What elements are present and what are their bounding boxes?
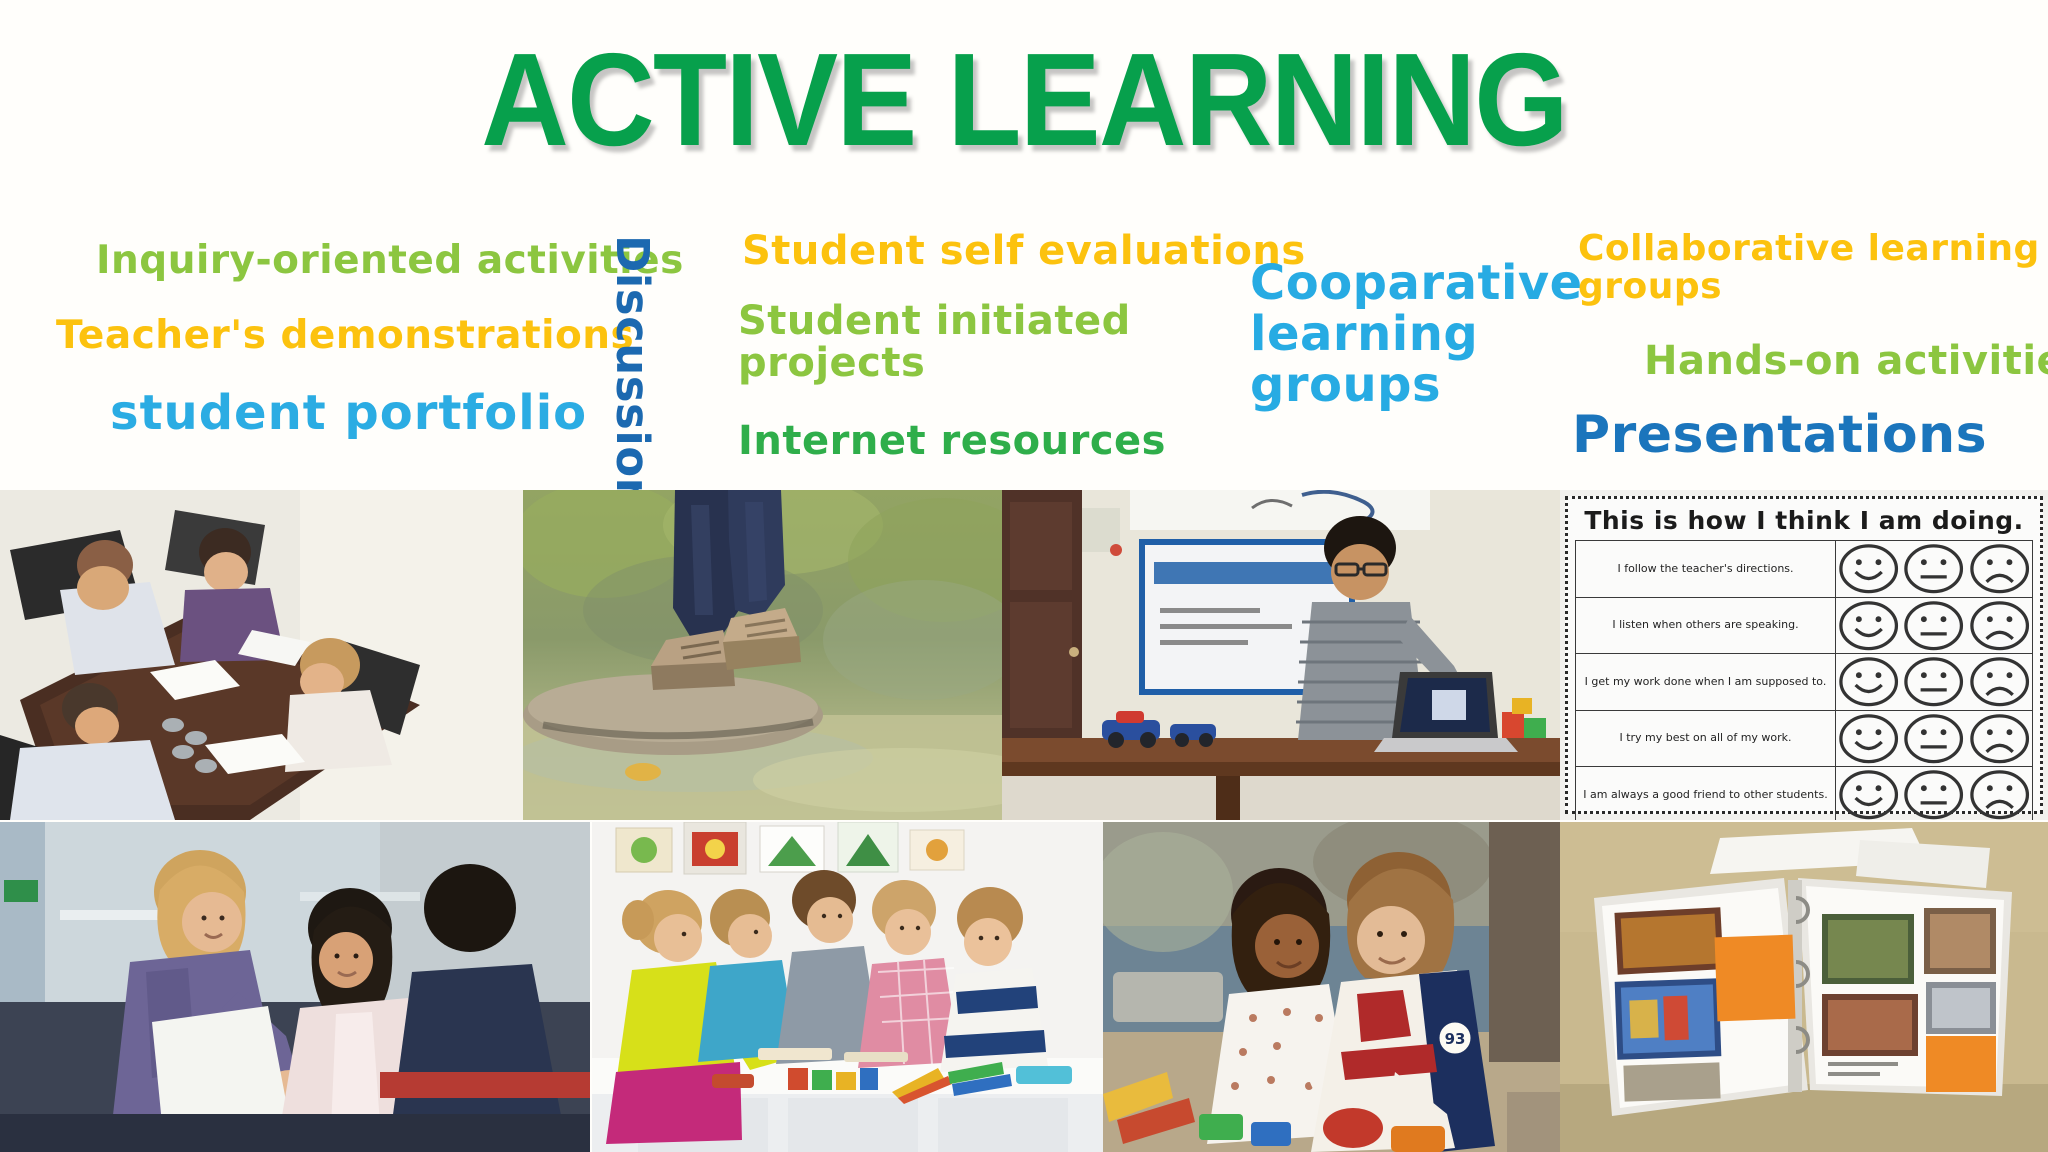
neutral-face-icon [1901, 541, 1966, 597]
keyword-student-self-evaluations: Student self evaluations [742, 230, 1306, 272]
keyword-collaborative-learning-groups: Collaborative learning groups [1578, 230, 2040, 306]
frowny-face-icon [1967, 654, 2032, 710]
worksheet-table: I follow the teacher's directions. I lis… [1575, 540, 2033, 820]
neutral-face-icon [1901, 767, 1966, 820]
keyword-presentations: Presentations [1572, 408, 1987, 463]
frowny-face-icon [1967, 767, 2032, 820]
smiley-face-icon [1836, 598, 1901, 654]
keyword-student-initiated-projects: Student initiated projects [738, 300, 1131, 385]
photo-children-crafting-image [592, 822, 1103, 1152]
worksheet-row: I listen when others are speaking. [1576, 598, 2032, 655]
photo-meeting-image [0, 490, 523, 820]
worksheet-title: This is how I think I am doing. [1575, 504, 2033, 540]
frowny-face-icon [1967, 711, 2032, 767]
photo-portfolio-scrapbook [1560, 822, 2048, 1152]
worksheet-row-label: I am always a good friend to other stude… [1576, 767, 1836, 820]
photo-portfolio-scrapbook-image [1560, 822, 2048, 1152]
photo-student-presenting [1002, 490, 1560, 820]
keyword-student-portfolio: student portfolio [110, 388, 587, 439]
photo-grid: This is how I think I am doing. I follow… [0, 490, 2048, 1152]
photo-teacher-tutoring-image [0, 822, 590, 1152]
frowny-face-icon [1967, 598, 2032, 654]
photo-self-assessment-worksheet: This is how I think I am doing. I follow… [1560, 490, 2048, 820]
neutral-face-icon [1901, 598, 1966, 654]
photo-meeting [0, 490, 523, 820]
worksheet-row: I follow the teacher's directions. [1576, 541, 2032, 598]
photo-student-presenting-image [1002, 490, 1560, 820]
neutral-face-icon [1901, 711, 1966, 767]
page-title: ACTIVE LEARNING [82, 34, 1966, 166]
keyword-band: Inquiry-oriented activities Teacher's de… [0, 210, 2048, 490]
worksheet-row-label: I get my work done when I am supposed to… [1576, 654, 1836, 710]
smiley-face-icon [1836, 541, 1901, 597]
svg-text:93: 93 [1445, 1030, 1466, 1048]
worksheet-rating-cell [1836, 654, 2032, 710]
photo-children-playing: 93 [1103, 822, 1560, 1152]
photo-stepping-stones-image [523, 490, 1002, 820]
worksheet-row: I get my work done when I am supposed to… [1576, 654, 2032, 711]
keyword-cooparative-learning-groups: Cooparative learning groups [1250, 258, 1583, 411]
worksheet-rating-cell [1836, 541, 2032, 597]
worksheet-row: I try my best on all of my work. [1576, 711, 2032, 768]
smiley-face-icon [1836, 654, 1901, 710]
keyword-internet-resources: Internet resources [738, 420, 1166, 462]
smiley-face-icon [1836, 711, 1901, 767]
keyword-hands-on-activities: Hands-on activities [1644, 340, 2048, 382]
neutral-face-icon [1901, 654, 1966, 710]
worksheet-row: I am always a good friend to other stude… [1576, 767, 2032, 820]
worksheet-row-label: I listen when others are speaking. [1576, 598, 1836, 654]
photo-children-playing-image: 93 [1103, 822, 1560, 1152]
worksheet-rating-cell [1836, 711, 2032, 767]
photo-children-crafting [592, 822, 1103, 1152]
smiley-face-icon [1836, 767, 1901, 820]
photo-teacher-tutoring [0, 822, 590, 1152]
keyword-teachers-demonstrations: Teacher's demonstrations [56, 315, 634, 356]
worksheet-row-label: I try my best on all of my work. [1576, 711, 1836, 767]
worksheet-sheet: This is how I think I am doing. I follow… [1560, 490, 2048, 820]
keyword-discussions: Discussions [608, 235, 656, 485]
active-learning-slide: ACTIVE LEARNING Inquiry-oriented activit… [0, 0, 2048, 1152]
worksheet-row-label: I follow the teacher's directions. [1576, 541, 1836, 597]
photo-stepping-stones [523, 490, 1002, 820]
worksheet-rating-cell [1836, 767, 2032, 820]
frowny-face-icon [1967, 541, 2032, 597]
worksheet-rating-cell [1836, 598, 2032, 654]
keyword-inquiry-oriented-activities: Inquiry-oriented activities [96, 240, 684, 281]
